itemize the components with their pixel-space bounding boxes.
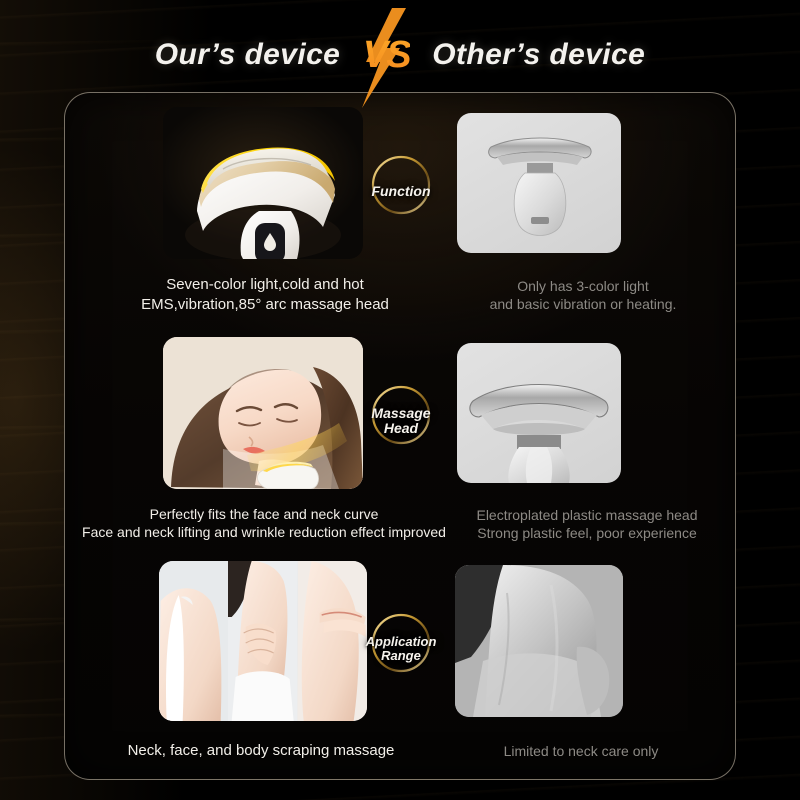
other-device-image-application-range xyxy=(455,565,623,717)
other-device-image-massage-head xyxy=(457,343,621,483)
caption-line: Strong plastic feel, poor experience xyxy=(437,524,736,542)
caption-line: Limited to neck care only xyxy=(431,742,731,760)
caption-line: Neck, face, and body scraping massage xyxy=(79,741,443,761)
collage-pane-shoulder xyxy=(159,561,228,721)
caption-row-application-range: Neck, face, and body scraping massage Li… xyxy=(65,733,736,780)
caption-line: and basic vibration or heating. xyxy=(433,295,733,313)
caption-line: Perfectly fits the face and neck curve xyxy=(64,505,469,523)
caption-row-massage-head: Perfectly fits the face and neck curve F… xyxy=(65,505,736,553)
our-caption-massage-head: Perfectly fits the face and neck curve F… xyxy=(64,505,469,542)
caption-line: Face and neck lifting and wrinkle reduct… xyxy=(64,523,469,541)
our-device-image-massage-head xyxy=(163,337,363,489)
vs-label: VS xyxy=(363,34,410,77)
comparison-header: Our’s device VS Other’s device xyxy=(0,24,800,86)
comparison-panel: Function xyxy=(64,92,736,780)
badge-application-range: Application Range xyxy=(355,603,447,695)
other-device-image-function xyxy=(457,113,621,253)
our-device-image-application-range xyxy=(159,561,367,721)
caption-line: Electroplated plastic massage head xyxy=(437,506,736,524)
vs-badge: VS xyxy=(348,24,424,86)
other-caption-massage-head: Electroplated plastic massage head Stron… xyxy=(437,506,736,543)
collage-pane-neck-chest xyxy=(228,561,297,721)
our-device-image-function xyxy=(163,107,363,259)
caption-row-function: Seven-color light,cold and hot EMS,vibra… xyxy=(65,275,736,323)
badge-label-function: Function xyxy=(371,184,430,199)
other-device-title: Other’s device xyxy=(432,38,645,72)
comparison-row-application-range: Application Range xyxy=(65,557,736,780)
comparison-row-function: Function xyxy=(65,99,736,327)
badge-massage-head: Massage Head xyxy=(355,375,447,467)
caption-line: Only has 3-color light xyxy=(433,277,733,295)
badge-function: Function xyxy=(355,145,447,237)
other-caption-function: Only has 3-color light and basic vibrati… xyxy=(433,277,733,314)
our-caption-application-range: Neck, face, and body scraping massage xyxy=(79,741,443,761)
our-caption-function: Seven-color light,cold and hot EMS,vibra… xyxy=(87,275,443,315)
badge-label-application-range: Application Range xyxy=(366,635,437,662)
comparison-row-massage-head: Massage Head Perfectly fits the face and… xyxy=(65,329,736,557)
caption-line: EMS,vibration,85° arc massage head xyxy=(87,295,443,315)
other-caption-application-range: Limited to neck care only xyxy=(431,742,731,760)
badge-label-massage-head: Massage Head xyxy=(371,406,430,435)
our-device-title: Our’s device xyxy=(155,38,340,72)
caption-line: Seven-color light,cold and hot xyxy=(87,275,443,295)
